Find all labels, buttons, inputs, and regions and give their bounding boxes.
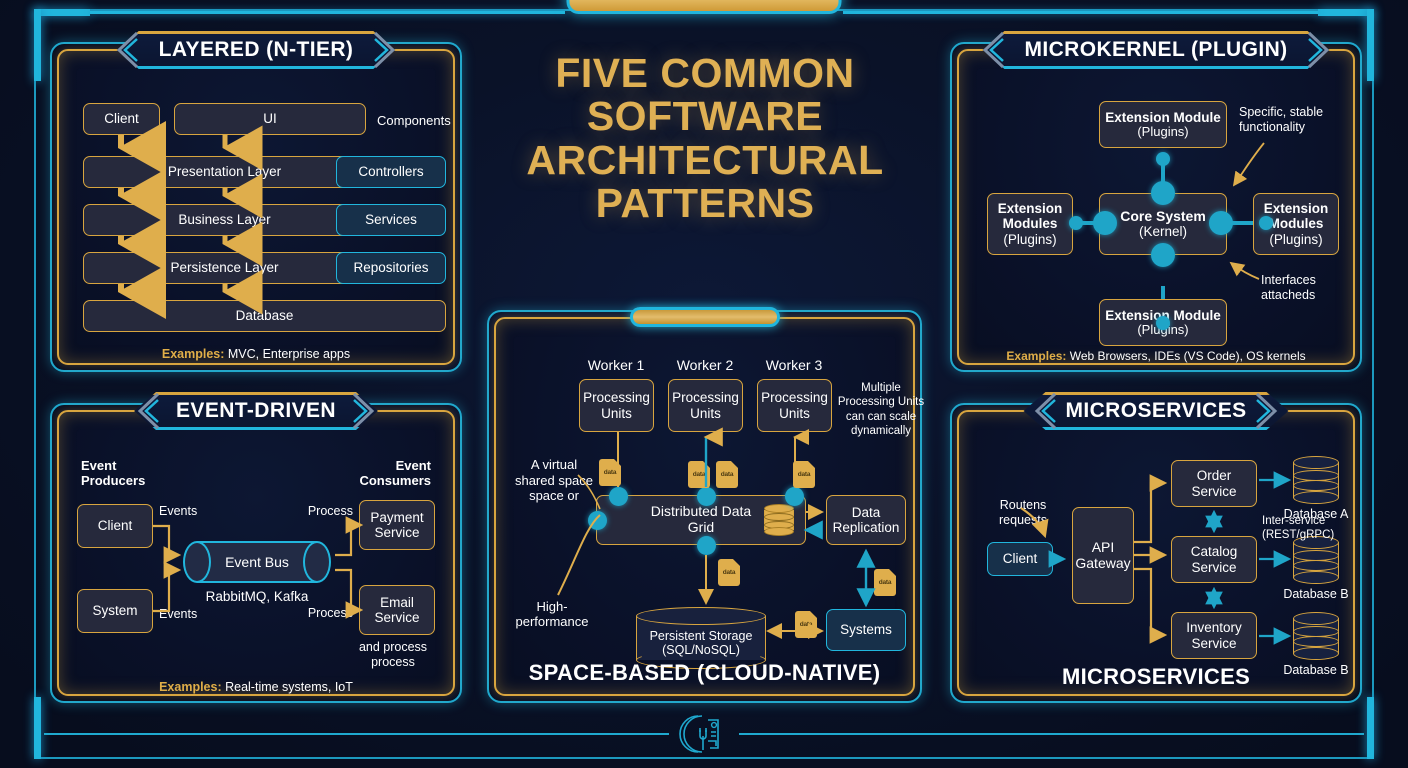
box-processing-units-3[interactable]: Processing Units [757, 379, 832, 432]
panel-space-based: Worker 1 Worker 2 Worker 3 Processing Un… [487, 310, 922, 703]
brand-logo-icon [678, 710, 730, 758]
microservices-footer-title: MICROSERVICES [959, 664, 1353, 690]
microkernel-examples: Examples: Web Browsers, IDEs (VS Code), … [959, 349, 1353, 363]
panel-header-microkernel: MICROKERNEL (PLUGIN) [982, 31, 1329, 69]
connector-dot-right-large [1209, 211, 1233, 235]
box-email-service[interactable]: Email Service [359, 585, 435, 635]
label-high-performance: High- performance [504, 599, 600, 630]
label-process-2: Process [308, 606, 353, 621]
header-chevron-right [373, 31, 399, 69]
box-presentation-layer[interactable]: Presentation Layer [83, 156, 366, 188]
header-chevron-left [1031, 392, 1057, 430]
grid-dot-2 [697, 487, 716, 506]
header-chevron-right [1255, 392, 1281, 430]
box-processing-units-1[interactable]: Processing Units [579, 379, 654, 432]
frame-corner-top-right-h [1318, 9, 1374, 16]
label-process-note: and process process [347, 640, 439, 670]
top-accent-line-left [90, 11, 565, 14]
annotation-interfaces: Interfaces attacheds [1261, 273, 1361, 303]
grid-dot-1 [609, 487, 628, 506]
title-line-3: ARCHITECTURAL [480, 139, 930, 182]
label-virtual-space: A virtual shared space space or [508, 457, 600, 504]
data-file-icon-4: data [793, 461, 815, 488]
box-persistence-layer[interactable]: Persistence Layer [83, 252, 366, 284]
title-line-1: FIVE COMMON [480, 52, 930, 95]
header-chevron-left [134, 392, 160, 430]
ed-examples-label: Examples: [159, 680, 222, 694]
header-chevron-left [979, 31, 1005, 69]
box-inventory-service[interactable]: Inventory Service [1171, 612, 1257, 659]
label-event-consumers: Event Consumers [321, 458, 431, 489]
box-business-layer[interactable]: Business Layer [83, 204, 366, 236]
data-file-icon-5: data [718, 559, 740, 586]
data-file-icon-7: data [795, 611, 817, 638]
connector-dot-left-large [1093, 211, 1117, 235]
top-gold-capsule [567, 0, 842, 14]
box-processing-units-2[interactable]: Processing Units [668, 379, 743, 432]
label-worker-1: Worker 1 [568, 357, 664, 374]
frame-corner-bottom-left-v [34, 697, 41, 759]
db-cylinder-b1 [1293, 536, 1339, 584]
header-chevron-right [1307, 31, 1333, 69]
event-bus-label: Event Bus [183, 541, 331, 583]
annotation-specific-stable: Specific, stable functionality [1239, 105, 1354, 135]
layered-examples-text: MVC, Enterprise apps [224, 347, 350, 361]
title-line-2: SOFTWARE [480, 95, 930, 138]
box-client[interactable]: Client [83, 103, 160, 135]
title-line-4: PATTERNS [480, 182, 930, 225]
box-client[interactable]: Client [987, 542, 1053, 576]
frame-corner-top-left-h [34, 9, 90, 16]
frame-corner-bottom-right-v [1367, 697, 1374, 759]
label-worker-2: Worker 2 [657, 357, 753, 374]
label-scale-note: Multiple Processing Units can can scale … [837, 381, 925, 439]
connector-dot-bottom-small [1156, 316, 1170, 330]
ed-examples-text: Real-time systems, IoT [222, 680, 353, 694]
data-file-icon-6: data [874, 569, 896, 596]
panel-layered: LAYERED (N-TIER) Client UI Components Pr… [50, 42, 462, 372]
box-extension-modules-left[interactable]: Extension Modules (Plugins) [987, 193, 1073, 255]
connector-dot-top-large [1151, 181, 1175, 205]
layered-examples: Examples: MVC, Enterprise apps [59, 347, 453, 361]
db-cylinder-b2 [1293, 612, 1339, 660]
panel-event-driven: EVENT-DRIVEN Event Producers Event Consu… [50, 403, 462, 703]
connector-dot-bottom-large [1151, 243, 1175, 267]
connector-dot-top-small [1156, 152, 1170, 166]
box-controllers[interactable]: Controllers [336, 156, 446, 188]
header-chevron-left [113, 31, 139, 69]
bottom-accent-line-left [44, 733, 669, 735]
header-chevron-right [352, 392, 378, 430]
panel-header-microservices: MICROSERVICES [1023, 392, 1288, 430]
grid-dot-bottom [697, 536, 716, 555]
box-systems[interactable]: Systems [826, 609, 906, 651]
mk-examples-text: Web Browsers, IDEs (VS Code), OS kernels [1066, 349, 1305, 363]
label-routes-requests: Routens requests [983, 498, 1063, 528]
event-driven-examples: Examples: Real-time systems, IoT [59, 680, 453, 694]
space-based-footer-title: SPACE-BASED (CLOUD-NATIVE) [496, 660, 913, 686]
event-bus-cylinder[interactable]: Event Bus [183, 541, 331, 583]
box-order-service[interactable]: Order Service [1171, 460, 1257, 507]
box-data-replication[interactable]: Data Replication [826, 495, 906, 545]
data-file-icon-1: data [599, 459, 621, 486]
box-services[interactable]: Services [336, 204, 446, 236]
panel-header-event-driven: EVENT-DRIVEN [134, 392, 378, 430]
data-file-icon-2: data [688, 461, 710, 488]
panel-header-layered: LAYERED (N-TIER) [117, 31, 396, 69]
box-catalog-service[interactable]: Catalog Service [1171, 536, 1257, 583]
space-panel-gold-pill [630, 307, 780, 327]
box-repositories[interactable]: Repositories [336, 252, 446, 284]
panel-microservices: MICROSERVICES Routens requests Client AP… [950, 403, 1362, 703]
page-title: FIVE COMMON SOFTWARE ARCHITECTURAL PATTE… [480, 52, 930, 226]
box-payment-service[interactable]: Payment Service [359, 500, 435, 550]
label-process-1: Process [308, 504, 353, 519]
label-events-2: Events [159, 607, 197, 622]
grid-dot-left [588, 511, 607, 530]
frame-corner-top-left-v [34, 9, 41, 81]
bottom-accent-line-right [739, 733, 1364, 735]
db-cylinder-a [1293, 456, 1339, 504]
box-database[interactable]: Database [83, 300, 446, 332]
grid-db-icon [764, 504, 794, 536]
connector-dot-left-small [1069, 216, 1083, 230]
box-system[interactable]: System [77, 589, 153, 633]
label-events-1: Events [159, 504, 197, 519]
panel-microkernel: MICROKERNEL (PLUGIN) Extension Module (P… [950, 42, 1362, 372]
box-api-gateway[interactable]: API Gateway [1072, 507, 1134, 604]
label-inter-service: Inter-service (REST/gRPC) [1262, 515, 1348, 542]
top-accent-line-right [843, 11, 1318, 14]
label-worker-3: Worker 3 [746, 357, 842, 374]
mk-examples-label: Examples: [1006, 349, 1066, 363]
box-client[interactable]: Client [77, 504, 153, 548]
box-ui[interactable]: UI [174, 103, 366, 135]
layered-examples-label: Examples: [162, 347, 225, 361]
data-file-icon-3: data [716, 461, 738, 488]
label-bus-tech: RabbitMQ, Kafka [183, 589, 331, 605]
connector-dot-right-small [1259, 216, 1273, 230]
label-components: Components [377, 113, 451, 128]
frame-corner-top-right-v [1367, 9, 1374, 81]
box-extension-module-top[interactable]: Extension Module (Plugins) [1099, 101, 1227, 148]
label-event-producers: Event Producers [81, 458, 191, 489]
label-database-b1: Database B [1271, 587, 1361, 602]
grid-dot-3 [785, 487, 804, 506]
